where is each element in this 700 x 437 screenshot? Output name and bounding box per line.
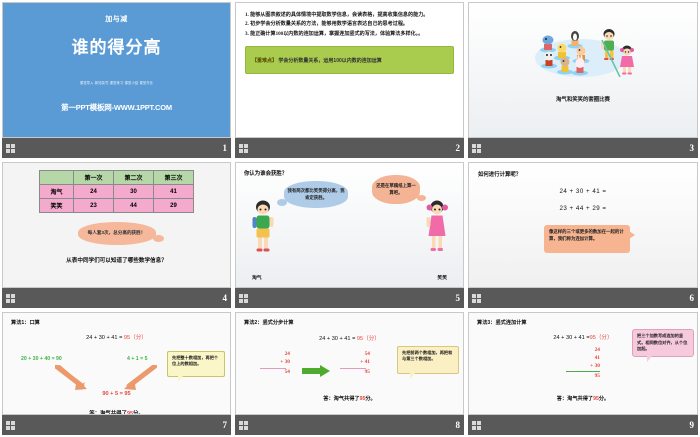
slide-4-question: 从表中同学们可以知道了哪些数学信息？ xyxy=(3,256,230,264)
slide-cell-8[interactable]: 算法2：竖式分步计算 24 + 30 + 41 = 95（分） 24 + 30 … xyxy=(233,310,466,437)
slide-1-title[interactable]: 加与减 谁的得分高 课堂导入·新知探究·课堂练习·课堂小结·课堂作业 第一PPT… xyxy=(2,2,231,138)
slide-7-method-1[interactable]: 算法1：口算 24 + 30 + 41 = 95（分） 20 + 30 + 40… xyxy=(2,312,231,415)
slide-8-eq-result: 95（分） xyxy=(357,336,380,342)
slide-cell-9[interactable]: 算法3：竖式连加计算 24 + 30 + 41 =95（分） 24 41 + 3… xyxy=(466,310,700,437)
row-2-value-2: 44 xyxy=(114,199,154,213)
slide-2-number: 2 xyxy=(456,143,461,153)
slide-2-objectives[interactable]: 1. 能够从图表叙述的具体情境中提取数学信息，会读表格，提高收集信息的能力。 2… xyxy=(235,2,464,138)
col2-addend-b: + 41 xyxy=(340,359,370,367)
slide-8-answer-suffix: 分。 xyxy=(365,396,375,402)
table-row: 笑笑 23 44 29 xyxy=(40,199,194,213)
arrow-down-right-icon xyxy=(55,365,91,391)
slide-cell-7[interactable]: 算法1：口算 24 + 30 + 41 = 95（分） 20 + 30 + 40… xyxy=(0,310,233,437)
slide-7-number: 7 xyxy=(223,420,228,430)
slide-8-eq-left: 24 + 30 + 41 = xyxy=(319,336,357,342)
thumbnail-grid-icon xyxy=(472,421,481,430)
slide-6-footer: 6 xyxy=(468,288,698,308)
slide-8-footer: 8 xyxy=(235,415,464,435)
slide-5-footer: 5 xyxy=(235,288,464,308)
col1-result: 54 xyxy=(260,369,290,377)
slide-3-number: 3 xyxy=(690,143,695,153)
col-addend-b: 41 xyxy=(566,354,600,362)
slide-4-table[interactable]: 第一次 第二次 第三次 淘气 24 30 41 笑笑 23 44 29 每人套3… xyxy=(2,162,231,288)
row-1-value-3: 41 xyxy=(154,185,194,199)
slide-1-outline: 课堂导入·新知探究·课堂练习·课堂小结·课堂作业 xyxy=(80,80,153,85)
thumbnail-grid-icon xyxy=(472,144,481,153)
objective-line-3: 3. 能正确计算100以内数的连加运算，掌握连加竖式的写法，体验算法多样化。。 xyxy=(245,30,454,39)
arrow-down-left-icon xyxy=(121,365,157,391)
vertical-column-1: 24 + 30 54 xyxy=(260,351,290,376)
slide-8-heading: 算法2：竖式分步计算 xyxy=(244,319,455,326)
equation-2: 23 + 44 + 29 = xyxy=(478,205,688,212)
slide-9-footer: 9 xyxy=(468,415,698,435)
step-tens: 20 + 30 + 40 = 90 xyxy=(21,356,62,362)
table-col-3: 第三次 xyxy=(154,171,194,185)
slide-5-question: 你认为谁会获胜？ xyxy=(244,169,455,177)
slide-9-number: 9 xyxy=(690,420,695,430)
slide-6-number: 6 xyxy=(690,293,695,303)
key-point-label: 【重难点】 xyxy=(252,58,277,64)
row-2-value-1: 23 xyxy=(74,199,114,213)
boy-name-label: 淘气 xyxy=(252,274,262,281)
slide-9-eq-left: 24 + 30 + 41 = xyxy=(553,335,589,341)
slide-7-eq-left: 24 + 30 + 41 = xyxy=(86,335,124,341)
step-ones: 4 + 1 = 5 xyxy=(127,356,147,362)
slide-cell-4[interactable]: 第一次 第二次 第三次 淘气 24 30 41 笑笑 23 44 29 每人套3… xyxy=(0,160,233,310)
slide-7-footer: 7 xyxy=(2,415,231,435)
thumbnail-grid-icon xyxy=(6,421,15,430)
table-corner-cell xyxy=(40,171,74,185)
table-header-row: 第一次 第二次 第三次 xyxy=(40,171,194,185)
score-table: 第一次 第二次 第三次 淘气 24 30 41 笑笑 23 44 29 xyxy=(39,170,194,213)
girl-name-label: 笑笑 xyxy=(437,274,447,281)
col-addend-c: + 30 xyxy=(566,362,600,370)
boy-character xyxy=(248,199,278,261)
slide-3-footer: 3 xyxy=(468,138,698,158)
objective-line-2: 2. 初步学会分析数量关系的方法，能够用数学语言表达自己的思考过程。 xyxy=(245,20,454,29)
slide-9-answer: 答：淘气共得了95分。 xyxy=(469,395,697,402)
col2-addend-a: 54 xyxy=(340,351,370,359)
slide-2-footer: 2 xyxy=(235,138,464,158)
slide-8-answer: 答：淘气共得了95分。 xyxy=(236,395,463,402)
col1-addend-b: + 30 xyxy=(260,359,290,367)
slide-cell-1[interactable]: 加与减 谁的得分高 课堂导入·新知探究·课堂练习·课堂小结·课堂作业 第一PPT… xyxy=(0,0,233,160)
slide-5-dialogue[interactable]: 你认为谁会获胜？ 我有两次都比笑笑得分高，我肯定获胜。 还是在草稿纸上算一算吧。 xyxy=(235,162,464,288)
slide-9-eq-result: 95（分） xyxy=(590,335,613,341)
slide-9-answer-prefix: 答：淘气共得了 xyxy=(557,396,593,402)
col-addend-a: 24 xyxy=(566,346,600,354)
slide-cell-2[interactable]: 1. 能够从图表叙述的具体情境中提取数学信息，会读表格，提高收集信息的能力。 2… xyxy=(233,0,466,160)
slide-9-answer-suffix: 分。 xyxy=(599,396,609,402)
col2-result: 95 xyxy=(340,369,370,377)
col-result: 95 xyxy=(566,372,600,380)
col1-addend-a: 24 xyxy=(260,351,290,359)
slide-9-method-3[interactable]: 算法3：竖式连加计算 24 + 30 + 41 =95（分） 24 41 + 3… xyxy=(468,312,698,415)
key-point-box: 【重难点】 学会分析数量关系，运用100以内数的连加运算 xyxy=(245,46,454,74)
objective-line-1: 1. 能够从图表叙述的具体情境中提取数学信息，会读表格，提高收集信息的能力。 xyxy=(245,11,454,20)
slide-8-equation: 24 + 30 + 41 = 95（分） xyxy=(244,334,455,342)
slide-thumbnail-grid: 加与减 谁的得分高 课堂导入·新知探究·课堂练习·课堂小结·课堂作业 第一PPT… xyxy=(0,0,700,437)
slide-7-sum: 90 + 5 = 95 xyxy=(3,391,230,397)
slide-cell-6[interactable]: 如何进行计算呢？ 24 + 30 + 41 = 23 + 44 + 29 = 像… xyxy=(466,160,700,310)
thumbnail-grid-icon xyxy=(239,294,248,303)
table-col-2: 第二次 xyxy=(114,171,154,185)
concept-callout: 像这样的三个或更多的数加在一起的计算，我们称为连加计算。 xyxy=(544,225,630,253)
slide-7-note: 先把整十数相加，再把个位上的数相加。 xyxy=(167,351,225,377)
row-1-label: 淘气 xyxy=(40,185,74,199)
slide-7-eq-result: 95（分） xyxy=(124,335,147,341)
girl-speech-bubble: 还是在草稿纸上算一算吧。 xyxy=(372,175,420,204)
slide-3-picture[interactable]: 淘气和笑笑的套圈比赛 xyxy=(468,2,698,138)
row-1-value-1: 24 xyxy=(74,185,114,199)
thumbnail-grid-icon xyxy=(239,421,248,430)
arrow-right-icon xyxy=(302,365,330,377)
slide-6-equations[interactable]: 如何进行计算呢？ 24 + 30 + 41 = 23 + 44 + 29 = 像… xyxy=(468,162,698,288)
slide-3-caption: 淘气和笑笑的套圈比赛 xyxy=(469,95,697,103)
girl-character xyxy=(423,199,451,261)
table-col-1: 第一次 xyxy=(74,171,114,185)
slide-6-question: 如何进行计算呢？ xyxy=(478,170,688,178)
slide-1-footer: 1 xyxy=(2,138,231,158)
rule-speech-bubble: 每人套3次，总分高的获胜！ xyxy=(78,222,156,245)
ring-toss-illustration xyxy=(527,25,639,83)
slide-7-equation: 24 + 30 + 41 = 95（分） xyxy=(11,333,222,341)
thumbnail-grid-icon xyxy=(6,144,15,153)
equation-1: 24 + 30 + 41 = xyxy=(478,188,688,195)
slide-8-answer-prefix: 答：淘气共得了 xyxy=(323,396,359,402)
slide-1-number: 1 xyxy=(223,143,228,153)
slide-cell-3[interactable]: 淘气和笑笑的套圈比赛 3 xyxy=(466,0,700,160)
vertical-column-2: 54 + 41 95 xyxy=(340,351,370,376)
key-point-text: 学会分析数量关系，运用100以内数的连加运算 xyxy=(278,58,381,64)
vertical-column: 24 41 + 30 95 xyxy=(566,346,600,380)
row-1-value-2: 30 xyxy=(114,185,154,199)
row-2-value-3: 29 xyxy=(154,199,194,213)
thumbnail-grid-icon xyxy=(472,294,481,303)
slide-1-unit: 加与减 xyxy=(105,14,128,24)
thumbnail-grid-icon xyxy=(6,294,15,303)
thumbnail-grid-icon xyxy=(239,144,248,153)
slide-1-brand: 第一PPT模板网-WWW.1PPT.COM xyxy=(61,102,172,113)
slide-cell-5[interactable]: 你认为谁会获胜？ 我有两次都比笑笑得分高，我肯定获胜。 还是在草稿纸上算一算吧。 xyxy=(233,160,466,310)
boy-speech-bubble: 我有两次都比笑笑得分高，我肯定获胜。 xyxy=(284,181,348,208)
slide-9-note: 把三个加数写成连加的竖式。相同数位对齐，从个位加起。 xyxy=(632,329,694,357)
slide-7-heading: 算法1：口算 xyxy=(11,319,222,326)
slide-8-method-2[interactable]: 算法2：竖式分步计算 24 + 30 + 41 = 95（分） 24 + 30 … xyxy=(235,312,464,415)
slide-4-number: 4 xyxy=(223,293,228,303)
slide-8-number: 8 xyxy=(456,420,461,430)
slide-1-title-text: 谁的得分高 xyxy=(72,33,162,58)
slide-5-number: 5 xyxy=(456,293,461,303)
row-2-label: 笑笑 xyxy=(40,199,74,213)
slide-4-footer: 4 xyxy=(2,288,231,308)
slide-8-note: 先把前两个数相加，再把和与第三个数相加。 xyxy=(397,346,459,374)
slide-9-heading: 算法3：竖式连加计算 xyxy=(477,319,689,326)
table-row: 淘气 24 30 41 xyxy=(40,185,194,199)
